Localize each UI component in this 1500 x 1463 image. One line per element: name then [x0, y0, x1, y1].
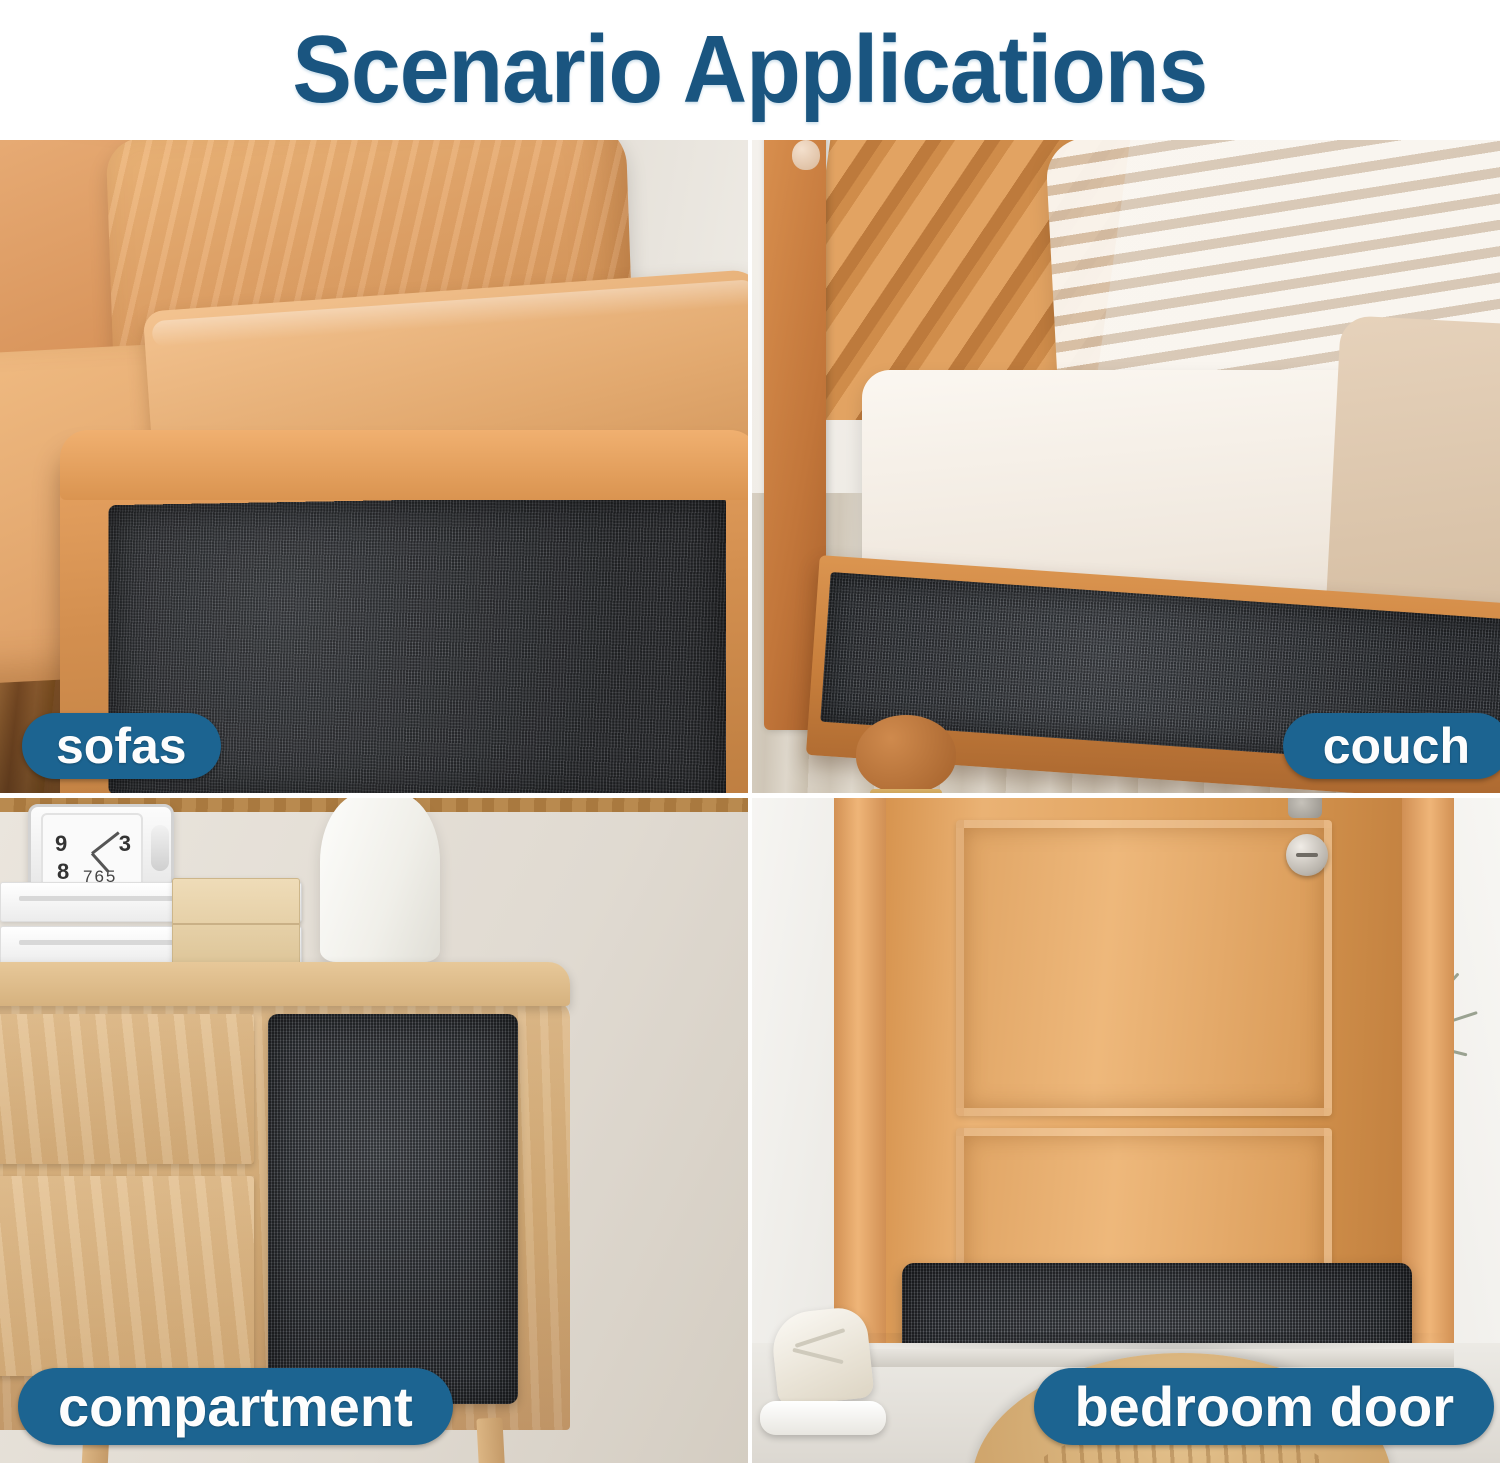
bed-leg-brass-ring	[870, 789, 942, 793]
bed-turned-leg	[852, 715, 962, 793]
clock-numeral-9: 9	[55, 831, 67, 857]
nightstand-top-surface	[0, 962, 570, 1006]
sneaker-sole	[760, 1401, 886, 1435]
nightstand-drawer-upper	[0, 1014, 254, 1164]
panel-label-bedroom-door: bedroom door	[1034, 1368, 1494, 1445]
door-panel-upper	[956, 820, 1332, 1116]
scenario-panel-couch[interactable]: couch	[752, 140, 1500, 793]
sofa-arm-top-edge	[60, 430, 748, 500]
book-spine-line	[19, 896, 179, 901]
clock-face: 9 3 8 765	[41, 813, 143, 889]
bed-photo	[752, 140, 1500, 793]
nightstand-photo: 9 3 8 765	[0, 798, 748, 1463]
scenario-panel-sofas[interactable]: sofas	[0, 140, 748, 793]
white-sneaker	[760, 1310, 890, 1435]
scenario-grid: sofas couch	[0, 140, 1500, 1463]
scenario-panel-compartment[interactable]: 9 3 8 765	[0, 798, 748, 1463]
book-spine-line	[19, 940, 179, 945]
panel-label-couch: couch	[1283, 713, 1500, 779]
clock-numeral-3: 3	[119, 831, 131, 857]
clock-bell	[151, 825, 169, 871]
page-title-bar: Scenario Applications	[0, 0, 1500, 140]
bed-leg-upper-ball	[856, 715, 956, 793]
nightstand-drawer-lower	[0, 1176, 254, 1376]
door-hinge-bracket	[1288, 798, 1322, 818]
scenario-panel-bedroom-door[interactable]: bedroom door	[752, 798, 1500, 1463]
scratching-mat-nightstand	[268, 1014, 518, 1404]
book-tan-stack	[172, 878, 300, 968]
sofa-photo	[0, 140, 748, 793]
clock-hand-minute	[91, 832, 120, 855]
headboard-knob	[792, 140, 820, 170]
white-vase	[320, 798, 440, 962]
page-title: Scenario Applications	[293, 22, 1208, 118]
door-screw-stopper	[1286, 834, 1328, 876]
bedroom-door-photo	[752, 798, 1500, 1463]
panel-label-sofas: sofas	[22, 713, 221, 779]
panel-label-compartment: compartment	[18, 1368, 453, 1445]
